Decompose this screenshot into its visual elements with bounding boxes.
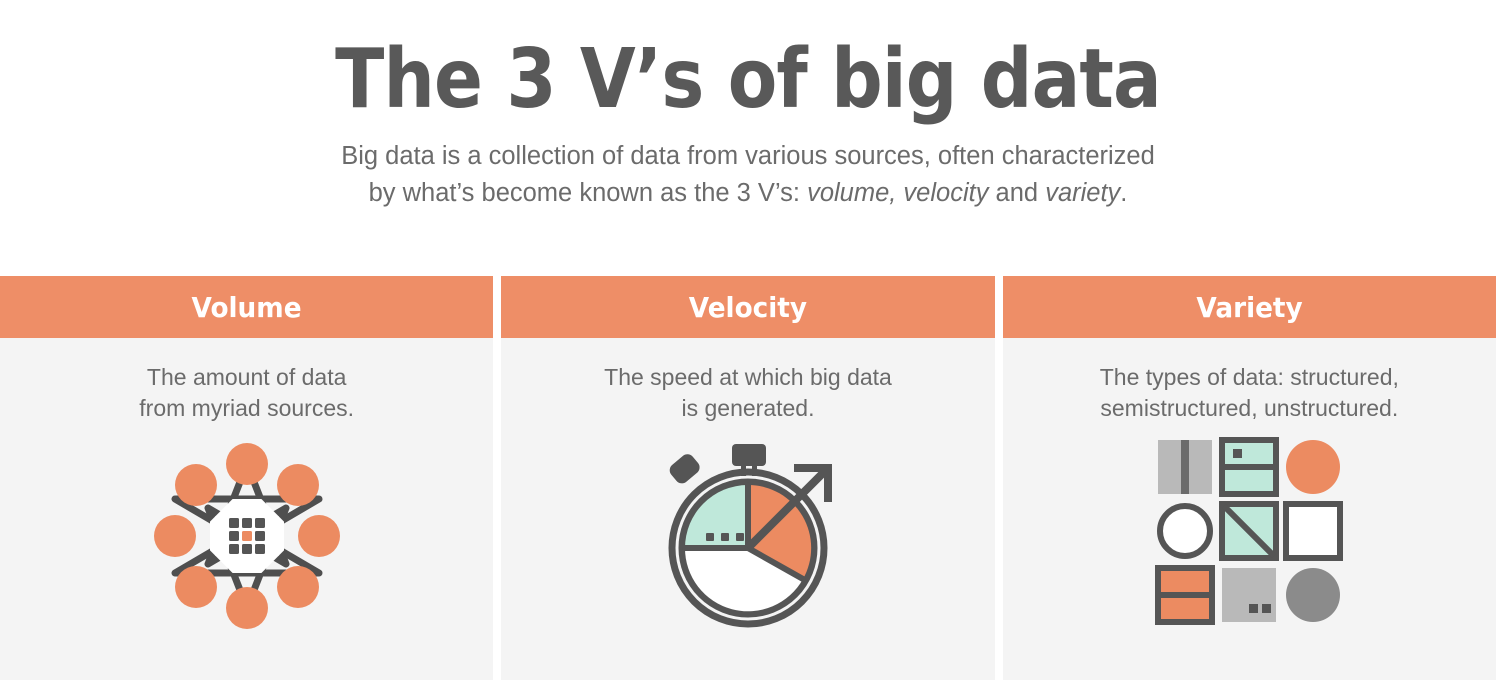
column-header-volume: Volume (0, 276, 493, 338)
column-description-volume: The amount of data from myriad sources. (139, 362, 354, 424)
shape-cell-orange-circle (1286, 440, 1340, 494)
column-description-velocity: The speed at which big data is generated… (604, 362, 892, 424)
page-subtitle: Big data is a collection of data from va… (0, 138, 1496, 212)
icon-container-volume (0, 436, 493, 636)
column-volume: Volume The amount of data from myriad so… (0, 276, 493, 680)
stopwatch-piechart-icon (648, 436, 848, 636)
shape-cell-mint-rows (1222, 440, 1276, 494)
subtitle-line-2-period: . (1120, 179, 1127, 207)
subtitle-line-1: Big data is a collection of data from va… (341, 142, 1155, 170)
icon-container-velocity (501, 436, 994, 636)
column-header-variety: Variety (1003, 276, 1496, 338)
icon-container-variety (1003, 436, 1496, 626)
shape-grid-icon (1154, 436, 1344, 626)
subtitle-italic-variety: variety (1045, 179, 1120, 207)
shape-cell-gray-dots (1222, 568, 1276, 622)
shape-cell-mint-diagonal (1222, 504, 1276, 558)
stopwatch-crown (732, 444, 766, 466)
column-velocity: Velocity The speed at which big data is … (501, 276, 994, 680)
column-title-volume: Volume (192, 291, 302, 324)
column-header-velocity: Velocity (501, 276, 994, 338)
column-title-velocity: Velocity (689, 291, 807, 324)
shape-cell-orange-rows (1158, 568, 1212, 622)
stopwatch-side-button (667, 451, 703, 486)
shape-cell-white-circle (1160, 506, 1210, 556)
subtitle-line-2-conjunction: and (988, 179, 1045, 207)
page-title: The 3 V’s of big data (90, 38, 1406, 122)
column-variety: Variety The types of data: structured, s… (1003, 276, 1496, 680)
subtitle-line-2-prefix: by what’s become known as the 3 V’s: (369, 179, 807, 207)
subtitle-italic-volume-velocity: volume, velocity (807, 179, 988, 207)
column-description-variety: The types of data: structured, semistruc… (1100, 362, 1399, 424)
pie-ellipsis-dots (706, 533, 744, 541)
infographic-root: The 3 V’s of big data Big data is a coll… (0, 0, 1496, 680)
shape-cell-gray-circle (1286, 568, 1340, 622)
network-nodes-icon (147, 436, 347, 636)
header-section: The 3 V’s of big data Big data is a coll… (0, 0, 1496, 212)
shape-cell-gray-bar (1158, 440, 1212, 494)
hub-dot-grid (229, 518, 265, 554)
shape-cell-white-square (1286, 504, 1340, 558)
columns-container: Volume The amount of data from myriad so… (0, 276, 1496, 680)
column-title-variety: Variety (1196, 291, 1302, 324)
